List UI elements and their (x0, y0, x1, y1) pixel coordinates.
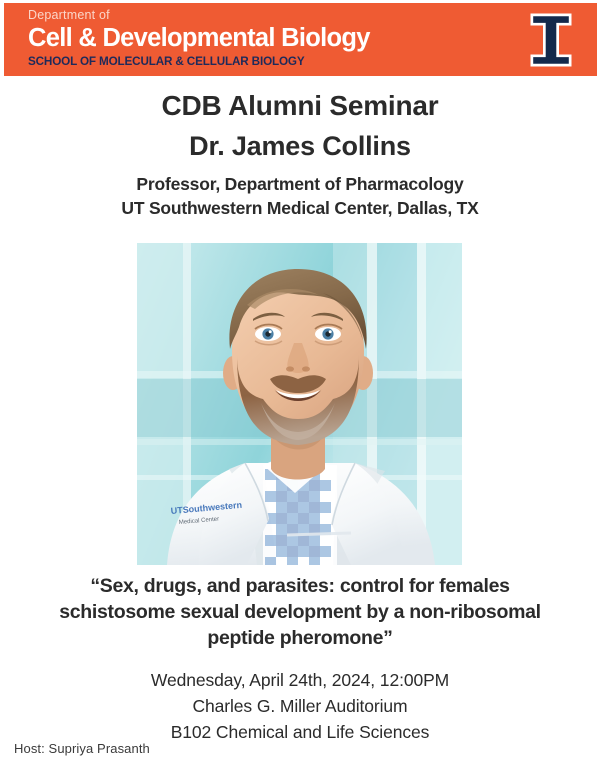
event-details-block: Wednesday, April 24th, 2024, 12:00PM Cha… (0, 667, 600, 745)
speaker-photo: UTSouthwestern Medical Center (137, 243, 462, 565)
school-subtitle: SCHOOL OF MOLECULAR & CELLULAR BIOLOGY (28, 55, 498, 69)
talk-title: “Sex, drugs, and parasites: control for … (30, 573, 570, 651)
seminar-series-title: CDB Alumni Seminar (0, 88, 600, 124)
department-eyebrow: Department of (28, 8, 498, 23)
speaker-affiliation-line-1: Professor, Department of Pharmacology (0, 172, 600, 196)
seminar-poster: Department of Cell & Developmental Biolo… (0, 0, 600, 777)
department-title: Cell & Developmental Biology (28, 24, 498, 52)
event-datetime: Wednesday, April 24th, 2024, 12:00PM (0, 667, 600, 693)
department-header-band: Department of Cell & Developmental Biolo… (4, 3, 597, 76)
speaker-name: Dr. James Collins (0, 128, 600, 164)
seminar-title-block: CDB Alumni Seminar Dr. James Collins Pro… (0, 88, 600, 220)
header-text-block: Department of Cell & Developmental Biolo… (28, 8, 498, 69)
university-of-illinois-block-i-icon (529, 12, 573, 68)
event-venue-room: Charles G. Miller Auditorium (0, 693, 600, 719)
host-credit: Host: Supriya Prasanth (14, 740, 150, 757)
speaker-affiliation-line-2: UT Southwestern Medical Center, Dallas, … (0, 196, 600, 220)
